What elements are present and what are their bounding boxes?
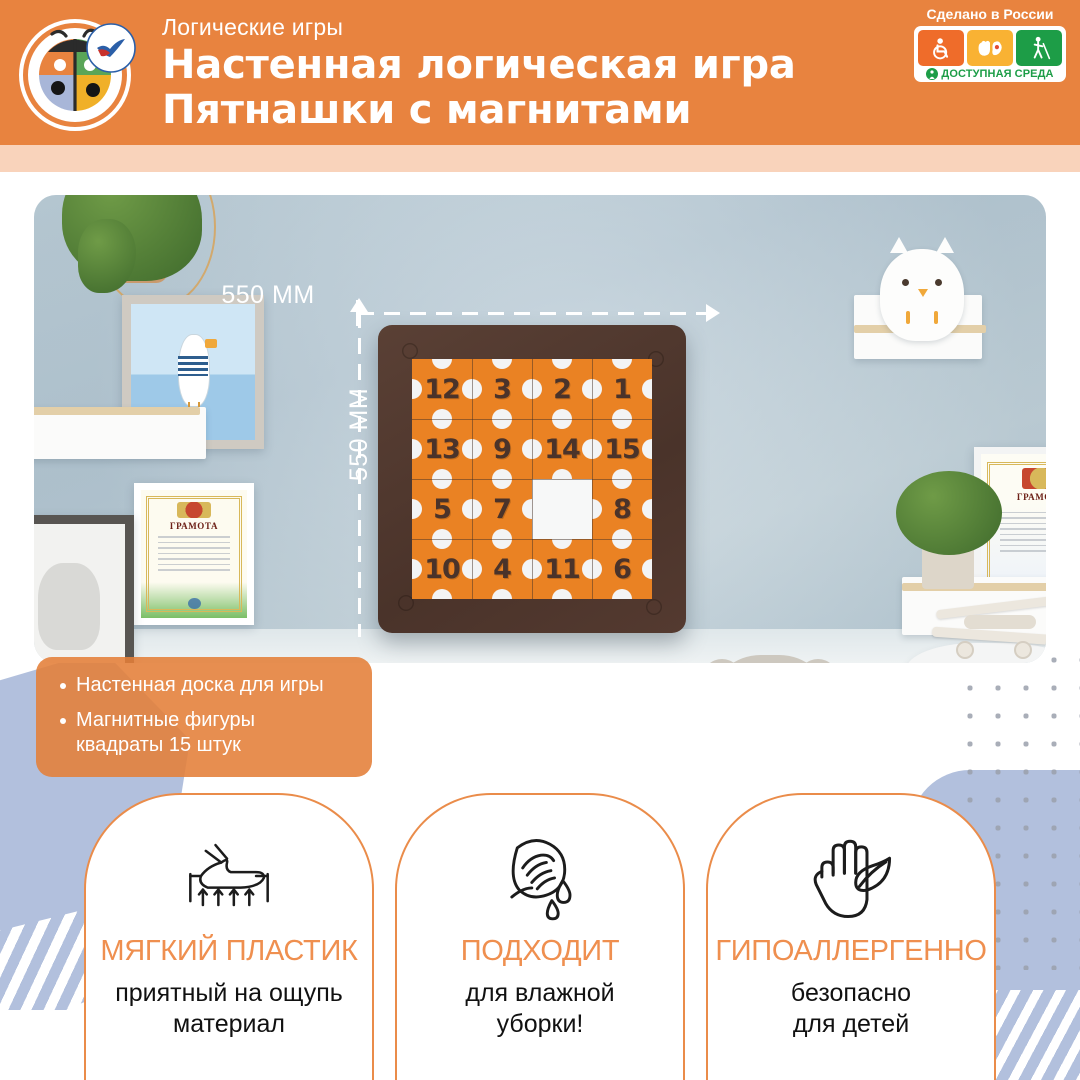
puzzle-board: 123211391415578104116 — [378, 325, 686, 633]
tile-cutout-dot — [612, 409, 632, 419]
board-notch-br — [646, 599, 662, 615]
feature-card-hypoallergenic: ГИПОАЛЛЕРГЕННО безопасно для детей — [706, 793, 996, 1080]
certificate-left: ГРАМОТА — [134, 483, 254, 625]
tile-cutout-dot — [552, 539, 572, 549]
tile-cutout-dot — [492, 479, 512, 489]
puzzle-tile-number: 7 — [493, 494, 511, 525]
puzzle-tile-number: 9 — [493, 434, 511, 465]
puzzle-tile[interactable]: 10 — [412, 539, 472, 599]
tile-cutout-dot — [592, 439, 602, 459]
wheelchair-icon — [918, 30, 964, 66]
puzzle-tile-number: 13 — [424, 434, 460, 465]
puzzle-tile[interactable]: 1 — [592, 359, 652, 419]
puzzle-tile[interactable]: 3 — [472, 359, 532, 419]
tile-cutout-dot — [612, 479, 632, 489]
tile-cutout-dot — [552, 359, 572, 369]
brand-kicker: Логические игры — [162, 14, 343, 41]
feature-card-subtitle: безопасно для детей — [791, 978, 911, 1039]
tile-cutout-dot — [552, 419, 572, 429]
tile-cutout-dot — [432, 359, 452, 369]
puzzle-tile[interactable]: 9 — [472, 419, 532, 479]
certificate-crest-icon-right — [1022, 468, 1046, 489]
tile-cutout-dot — [642, 559, 652, 579]
grid-seam-vertical — [592, 359, 593, 599]
puzzle-tile[interactable]: 13 — [412, 419, 472, 479]
feature-card-title: МЯГКИЙ ПЛАСТИК — [100, 935, 357, 968]
page-title: Настенная логическая игра Пятнашки с маг… — [162, 43, 796, 133]
badge-text-right: СРЕДА — [1015, 68, 1054, 80]
puzzle-tile-number: 12 — [424, 374, 460, 405]
tile-cutout-dot — [492, 419, 512, 429]
made-in-russia-badge: Сделано в России — [914, 6, 1066, 82]
puzzle-tile[interactable]: 5 — [412, 479, 472, 539]
tile-cutout-dot — [432, 419, 452, 429]
tile-cutout-dot — [492, 409, 512, 419]
feature-card-wet-cleaning: ПОДХОДИТ для влажной уборки! — [395, 793, 685, 1080]
certificate-title-left: ГРАМОТА — [141, 521, 247, 531]
tile-cutout-dot — [592, 499, 602, 519]
feature-card-subtitle: приятный на ощупь материал — [115, 978, 343, 1039]
hypoallergenic-hand-feather-icon — [799, 829, 903, 925]
puzzle-tile-number: 1 — [613, 374, 631, 405]
tile-cutout-dot — [522, 379, 532, 399]
tile-cutout-dot — [432, 409, 452, 419]
dimension-arrow-right — [706, 304, 720, 322]
puzzle-tile-number: 6 — [613, 554, 631, 585]
tile-cutout-dot — [492, 589, 512, 599]
certificate-crest-icon — [177, 502, 211, 519]
tile-cutout-dot — [612, 469, 632, 479]
tile-cutout-dot — [592, 379, 602, 399]
tile-cutout-dot — [462, 379, 472, 399]
puzzle-tile[interactable]: 14 — [532, 419, 592, 479]
puzzle-tile[interactable]: 2 — [532, 359, 592, 419]
feature-cards-row: МЯГКИЙ ПЛАСТИК приятный на ощупь материа… — [0, 793, 1080, 1080]
tile-cutout-dot — [432, 469, 452, 479]
puzzle-tile-number: 2 — [553, 374, 571, 405]
dimension-line-horizontal — [358, 312, 714, 315]
tile-cutout-dot — [612, 529, 632, 539]
made-in-label: Сделано в России — [914, 6, 1066, 22]
accessible-environment-label: ДОСТУПНАЯ СРЕДА — [918, 68, 1062, 80]
tile-cutout-dot — [412, 379, 422, 399]
accessible-environment-badge: ДОСТУПНАЯ СРЕДА — [914, 26, 1066, 82]
shelf-plant-foliage — [896, 471, 1002, 555]
tile-cutout-dot — [522, 559, 532, 579]
badge-text-left: ДОСТУПНАЯ — [941, 68, 1011, 80]
tile-cutout-dot — [642, 379, 652, 399]
tile-cutout-dot — [612, 539, 632, 549]
tile-cutout-dot — [582, 439, 592, 459]
puzzle-tile[interactable]: 15 — [592, 419, 652, 479]
tile-cutout-dot — [462, 439, 472, 459]
dimension-arrow-up — [350, 298, 368, 312]
sign-language-icon — [967, 30, 1013, 66]
tile-cutout-dot — [612, 419, 632, 429]
owl-decor — [880, 249, 964, 341]
puzzle-tile[interactable]: 7 — [472, 479, 532, 539]
tile-cutout-dot — [582, 559, 592, 579]
tile-cutout-dot — [492, 529, 512, 539]
tile-cutout-dot — [522, 439, 532, 459]
puzzle-empty-slot — [532, 479, 592, 539]
tile-cutout-dot — [432, 539, 452, 549]
tile-cutout-dot — [412, 439, 422, 459]
bear-chair — [700, 641, 840, 663]
feature-card-title: ПОДХОДИТ — [461, 935, 620, 968]
certificate-seal — [188, 598, 202, 610]
tile-cutout-dot — [472, 379, 482, 399]
ladybug-logo — [18, 12, 140, 134]
tile-cutout-dot — [532, 439, 542, 459]
tile-cutout-dot — [412, 559, 422, 579]
header-accent-strip — [0, 145, 1080, 172]
tile-cutout-dot — [432, 589, 452, 599]
wet-cleaning-hand-icon — [490, 829, 590, 925]
tile-cutout-dot — [552, 409, 572, 419]
bullet-item: Настенная доска для игры — [76, 673, 352, 699]
puzzle-tile[interactable]: 12 — [412, 359, 472, 419]
tile-cutout-dot — [472, 559, 482, 579]
feature-bullets-callout: Настенная доска для игрыМагнитные фигуры… — [36, 657, 372, 777]
tile-cutout-dot — [592, 559, 602, 579]
tile-cutout-dot — [522, 499, 532, 519]
puzzle-grid: 123211391415578104116 — [412, 359, 652, 599]
toy-plane — [930, 597, 1046, 657]
puzzle-tile[interactable]: 8 — [592, 479, 652, 539]
puzzle-tile-number: 4 — [493, 554, 511, 585]
board-notch-tl — [402, 343, 418, 359]
blind-cane-icon — [1016, 30, 1062, 66]
tile-cutout-dot — [432, 479, 452, 489]
tile-cutout-dot — [462, 559, 472, 579]
tile-cutout-dot — [492, 359, 512, 369]
puzzle-tile[interactable]: 6 — [592, 539, 652, 599]
tile-cutout-dot — [472, 439, 482, 459]
puzzle-tile[interactable]: 4 — [472, 539, 532, 599]
puzzle-tile-number: 11 — [544, 554, 580, 585]
puzzle-tile-number: 3 — [493, 374, 511, 405]
product-infographic-page: Логические игры Настенная логическая игр… — [0, 0, 1080, 1080]
tile-cutout-dot — [582, 379, 592, 399]
tile-cutout-dot — [462, 499, 472, 519]
product-scene-photo: ГРАМОТА ГРАМОТА — [34, 195, 1046, 663]
puzzle-tile-number: 14 — [544, 434, 580, 465]
puzzle-tile-number: 15 — [604, 434, 640, 465]
tile-cutout-dot — [532, 379, 542, 399]
tile-cutout-dot — [642, 499, 652, 519]
puzzle-tile-number: 5 — [433, 494, 451, 525]
bullet-item: Магнитные фигуры квадраты 15 штук — [76, 708, 352, 759]
feature-card-soft-plastic: МЯГКИЙ ПЛАСТИК приятный на ощупь материа… — [84, 793, 374, 1080]
tile-cutout-dot — [492, 469, 512, 479]
tile-cutout-dot — [552, 469, 572, 479]
tile-cutout-dot — [472, 499, 482, 519]
tile-cutout-dot — [612, 589, 632, 599]
wall-shelf-left-lip — [34, 407, 200, 415]
grid-seam-horizontal — [412, 479, 652, 480]
tile-cutout-dot — [612, 359, 632, 369]
tile-cutout-dot — [412, 499, 422, 519]
accessibility-dot-icon — [926, 68, 938, 80]
soft-plastic-foot-icon — [171, 829, 287, 925]
puzzle-tile-number: 8 — [613, 494, 631, 525]
framed-picture-left-dark — [34, 515, 134, 663]
grid-seam-horizontal — [412, 539, 652, 540]
tile-cutout-dot — [432, 529, 452, 539]
puzzle-tile[interactable]: 11 — [532, 539, 592, 599]
feature-card-title: ГИПОАЛЛЕРГЕННО — [715, 935, 986, 968]
puzzle-tile-number: 10 — [424, 554, 460, 585]
feature-card-subtitle: для влажной уборки! — [465, 978, 614, 1039]
tile-cutout-dot — [492, 539, 512, 549]
tile-cutout-dot — [642, 439, 652, 459]
dimension-label-height: 550 ММ — [345, 388, 374, 481]
tile-cutout-dot — [532, 559, 542, 579]
tile-cutout-dot — [552, 589, 572, 599]
